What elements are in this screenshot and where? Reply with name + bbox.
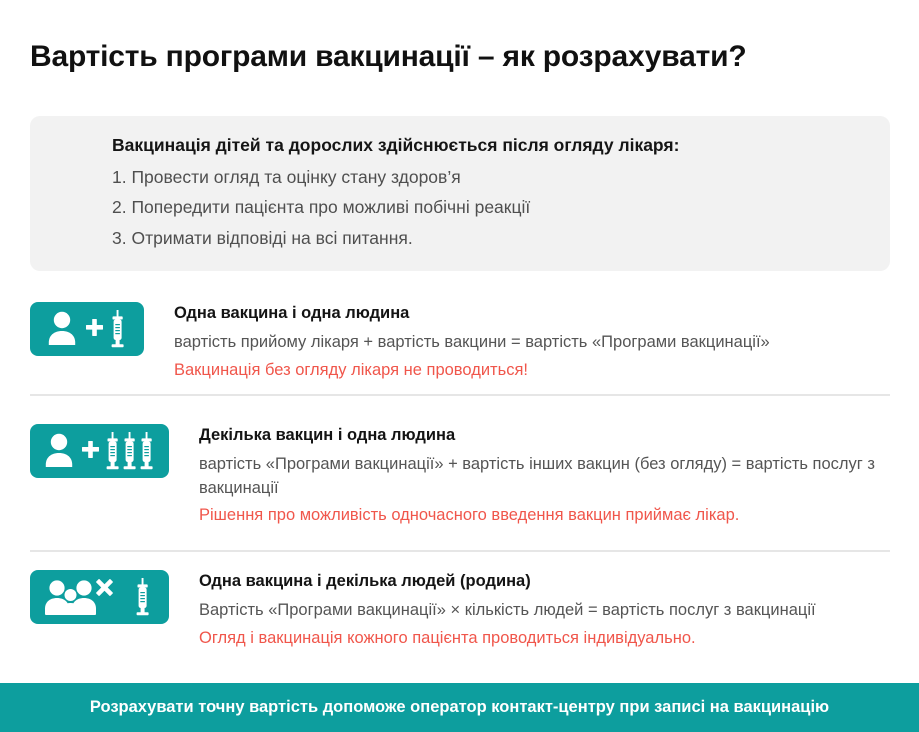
scenario-title: Одна вакцина і одна людина: [174, 303, 892, 324]
intro-panel: Вакцинація дітей та дорослих здійснюєтьс…: [30, 116, 890, 271]
footer-text: Розрахувати точну вартість допоможе опер…: [90, 698, 829, 717]
scenario-text: Одна вакцина і декілька людей (родина) В…: [199, 570, 892, 650]
family-times-syringe-icon: [30, 570, 169, 624]
scenario-note: Рішення про можливість одночасного введе…: [199, 504, 892, 528]
intro-list-item-2: 2. Попередити пацієнта про можливі побіч…: [112, 196, 860, 220]
scenario-text: Одна вакцина і одна людина вартість прий…: [174, 302, 892, 382]
scenario-formula: вартість прийому лікаря + вартість вакци…: [174, 331, 892, 355]
scenario-note: Огляд і вакцинація кожного пацієнта пров…: [199, 627, 892, 651]
scenario-title: Декілька вакцин і одна людина: [199, 425, 892, 446]
scenario-title: Одна вакцина і декілька людей (родина): [199, 571, 892, 592]
intro-heading: Вакцинація дітей та дорослих здійснюєтьс…: [112, 134, 860, 157]
row-divider: [30, 550, 890, 552]
scenario-row: Одна вакцина і одна людина вартість прий…: [30, 302, 892, 382]
scenario-row: Декілька вакцин і одна людина вартість «…: [30, 424, 892, 528]
scenario-formula: вартість «Програми вакцинації» + вартіст…: [199, 453, 892, 501]
person-plus-syringe-icon: [30, 302, 144, 356]
scenario-note: Вакцинація без огляду лікаря не проводит…: [174, 359, 892, 383]
infographic-page: Вартість програми вакцинації – як розрах…: [0, 0, 919, 732]
scenario-row: Одна вакцина і декілька людей (родина) В…: [30, 570, 892, 650]
scenario-text: Декілька вакцин і одна людина вартість «…: [199, 424, 892, 528]
page-title: Вартість програми вакцинації – як розрах…: [30, 40, 900, 74]
person-plus-three-syringes-icon: [30, 424, 169, 478]
scenario-formula: Вартість «Програми вакцинації» × кількіс…: [199, 599, 892, 623]
intro-list-item-1: 1. Провести огляд та оцінку стану здоров…: [112, 166, 860, 190]
row-divider: [30, 394, 890, 396]
intro-list-item-3: 3. Отримати відповіді на всі питання.: [112, 227, 860, 251]
footer-banner: Розрахувати точну вартість допоможе опер…: [0, 683, 919, 732]
